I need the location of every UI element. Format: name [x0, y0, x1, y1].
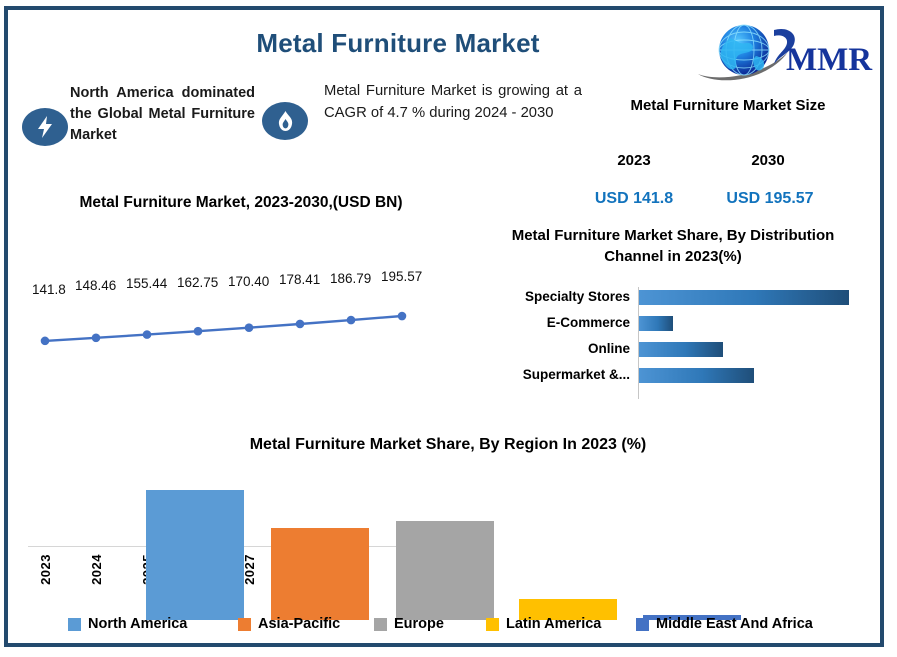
line-chart-title: Metal Furniture Market, 2023-2030,(USD B…: [46, 192, 436, 214]
line-data-label: 155.44: [126, 276, 167, 291]
legend-swatch: [486, 618, 499, 631]
distribution-bar: [639, 342, 723, 357]
legend-label: North America: [88, 616, 187, 632]
market-size-year-forecast: 2030: [708, 152, 828, 169]
line-chart: Metal Furniture Market, 2023-2030,(USD B…: [16, 192, 456, 418]
legend-swatch: [238, 618, 251, 631]
distribution-category-label: Supermarket &...: [458, 367, 630, 382]
distribution-bar: [639, 368, 754, 383]
region-chart-legend: North AmericaAsia-PacificEuropeLatin Ame…: [16, 616, 880, 644]
market-size-title: Metal Furniture Market Size: [578, 96, 878, 116]
line-series: [16, 244, 456, 364]
region-legend-item[interactable]: Asia-Pacific: [238, 616, 340, 632]
distribution-bar: [639, 316, 673, 331]
region-bar: [146, 490, 244, 620]
legend-label: Middle East And Africa: [656, 616, 813, 632]
legend-swatch: [374, 618, 387, 631]
market-size-value-base: USD 141.8: [569, 190, 699, 208]
legend-label: Asia-Pacific: [258, 616, 340, 632]
region-chart-plot: [16, 460, 880, 620]
line-chart-plot: [16, 244, 456, 364]
callout-cagr-text: Metal Furniture Market is growing at a C…: [324, 80, 582, 124]
line-data-label: 178.41: [279, 272, 320, 287]
region-bar: [396, 521, 494, 620]
svg-text:MMR: MMR: [786, 42, 873, 78]
line-data-label: 170.40: [228, 274, 269, 289]
distribution-row: E-Commerce: [458, 313, 888, 339]
mmr-logo: MMR: [692, 22, 882, 84]
distribution-row: Online: [458, 339, 888, 365]
globe-swoosh-icon: MMR: [692, 22, 882, 84]
region-chart-title: Metal Furniture Market Share, By Region …: [16, 436, 880, 454]
distribution-row: Supermarket &...: [458, 365, 888, 391]
distribution-bar-chart: Metal Furniture Market Share, By Distrib…: [458, 225, 888, 415]
callout-region-text: North America dominated the Global Metal…: [70, 83, 255, 146]
distribution-bar: [639, 290, 849, 305]
distribution-category-label: E-Commerce: [458, 315, 630, 330]
distribution-row: Specialty Stores: [458, 287, 888, 313]
region-legend-item[interactable]: North America: [68, 616, 187, 632]
legend-swatch: [68, 618, 81, 631]
market-size-value-forecast: USD 195.57: [705, 190, 835, 208]
line-data-label: 195.57: [381, 269, 422, 284]
region-legend-item[interactable]: Latin America: [486, 616, 601, 632]
infographic-container: Metal Furniture Market MMR: [4, 6, 884, 647]
legend-label: Europe: [394, 616, 444, 632]
legend-label: Latin America: [506, 616, 601, 632]
legend-swatch: [636, 618, 649, 631]
page-title: Metal Furniture Market: [188, 28, 608, 59]
distribution-category-label: Online: [458, 341, 630, 356]
region-legend-item[interactable]: Middle East And Africa: [636, 616, 813, 632]
line-data-label: 141.8: [32, 282, 66, 297]
distribution-chart-plot: Specialty StoresE-CommerceOnlineSupermar…: [458, 287, 888, 399]
region-legend-item[interactable]: Europe: [374, 616, 444, 632]
region-bar: [271, 528, 369, 620]
market-size-year-base: 2023: [574, 152, 694, 169]
region-column-chart: Metal Furniture Market Share, By Region …: [16, 430, 880, 645]
line-data-label: 162.75: [177, 275, 218, 290]
flame-icon: [262, 102, 308, 140]
lightning-bolt-icon: [22, 108, 68, 146]
distribution-chart-title: Metal Furniture Market Share, By Distrib…: [488, 225, 858, 267]
line-data-label: 148.46: [75, 278, 116, 293]
distribution-category-label: Specialty Stores: [458, 289, 630, 304]
line-data-label: 186.79: [330, 271, 371, 286]
